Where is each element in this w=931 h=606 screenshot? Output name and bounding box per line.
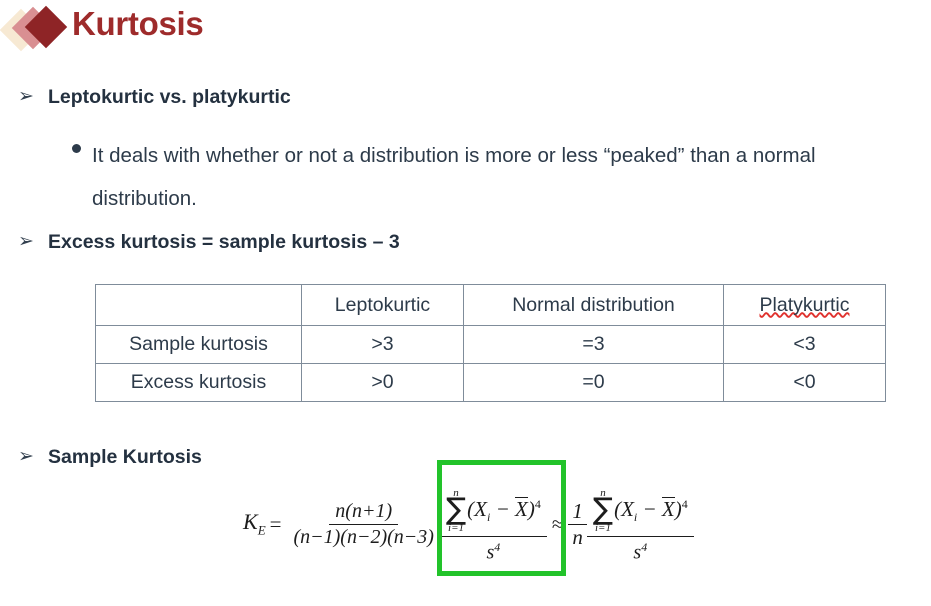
formula-summation-fraction-right: n ∑ i=1 (Xi − X)4 s4 [587,482,694,565]
kurtosis-comparison-table: Leptokurtic Normal distribution Platykur… [95,284,886,402]
summation-body: (Xi − X)4 [614,497,688,525]
paren-close: ) [675,497,682,521]
body-subscript: i [487,510,490,524]
formula-summation-fraction-left: n ∑ i=1 (Xi − X)4 s4 [440,482,547,565]
summation-body: (Xi − X)4 [467,497,541,525]
row-label-sample-kurtosis: Sample kurtosis [96,326,302,364]
summation-numerator: n ∑ i=1 (Xi − X)4 [587,482,694,536]
coefficient-denominator: (n−1)(n−2)(n−3) [287,525,439,550]
arrow-bullet-icon: ➢ [18,229,48,255]
sample-mean-symbol: X [515,497,528,520]
sigma-glyph-icon: ∑ [593,497,613,523]
bullet-label: Sample Kurtosis [48,444,202,470]
cell-excess-normal: =0 [464,364,724,402]
cell-excess-platykurtic: <0 [724,364,886,402]
minus-sign: − [496,497,510,521]
table-header-platykurtic: Platykurtic [724,285,886,326]
summation-denominator: s4 [627,537,653,566]
bullet-leptokurtic-vs-platykurtic: ➢ Leptokurtic vs. platykurtic [18,84,291,110]
cell-excess-leptokurtic: >0 [302,364,464,402]
arrow-bullet-icon: ➢ [18,84,48,110]
denominator-exponent: 4 [641,540,647,554]
cell-sample-normal: =3 [464,326,724,364]
bullet-sample-kurtosis: ➢ Sample Kurtosis [18,444,202,470]
row-label-excess-kurtosis: Excess kurtosis [96,364,302,402]
cell-sample-platykurtic: <3 [724,326,886,364]
table-header-normal-distribution: Normal distribution [464,285,724,326]
denominator-exponent: 4 [494,540,500,554]
cell-sample-leptokurtic: >3 [302,326,464,364]
formula-lhs-symbol: K [243,509,258,534]
sigma-glyph-icon: ∑ [446,497,466,523]
exponent: 4 [535,497,541,511]
formula-equals: = [270,512,282,537]
one-over-n-denominator: n [568,525,587,550]
formula-lhs-subscript: E [258,523,266,538]
dot-bullet-icon [72,134,92,153]
formula-lhs: KE [243,509,266,538]
table-header-blank [96,285,302,326]
sigma-lower-limit: i=1 [595,523,611,534]
body-variable: X [474,497,487,521]
arrow-bullet-icon: ➢ [18,444,48,470]
slide-title-bar: Kurtosis [0,0,931,62]
sigma-operator: n ∑ i=1 [446,488,466,533]
formula-coefficient-fraction: n(n+1) (n−1)(n−2)(n−3) [287,499,439,550]
sigma-lower-limit: i=1 [448,523,464,534]
coefficient-numerator: n(n+1) [329,499,398,525]
sub-bullet-label: It deals with whether or not a distribut… [92,134,920,220]
table-row: Excess kurtosis >0 =0 <0 [96,364,886,402]
table-header-leptokurtic: Leptokurtic [302,285,464,326]
body-variable: X [621,497,634,521]
bullet-label: Leptokurtic vs. platykurtic [48,84,291,110]
formula-approx-sign: ≈ [552,512,564,537]
formula-one-over-n: 1 n [568,499,587,550]
bullet-label: Excess kurtosis = sample kurtosis – 3 [48,229,400,255]
one-over-n-numerator: 1 [568,499,587,525]
table-header-row: Leptokurtic Normal distribution Platykur… [96,285,886,326]
body-subscript: i [634,510,637,524]
exponent: 4 [682,497,688,511]
diamond-logo-icon [4,4,70,56]
summation-denominator: s4 [480,537,506,566]
paren-close: ) [528,497,535,521]
sub-bullet-peaked-description: It deals with whether or not a distribut… [72,134,931,220]
page-title: Kurtosis [72,5,203,43]
sample-kurtosis-formula: KE = n(n+1) (n−1)(n−2)(n−3) n ∑ i=1 (Xi … [243,470,694,578]
minus-sign: − [643,497,657,521]
table-row: Sample kurtosis >3 =3 <3 [96,326,886,364]
bullet-excess-kurtosis: ➢ Excess kurtosis = sample kurtosis – 3 [18,229,400,255]
sigma-operator: n ∑ i=1 [593,488,613,533]
sample-mean-symbol: X [662,497,675,520]
summation-numerator: n ∑ i=1 (Xi − X)4 [440,482,547,536]
misspelled-word: Platykurtic [760,294,850,316]
